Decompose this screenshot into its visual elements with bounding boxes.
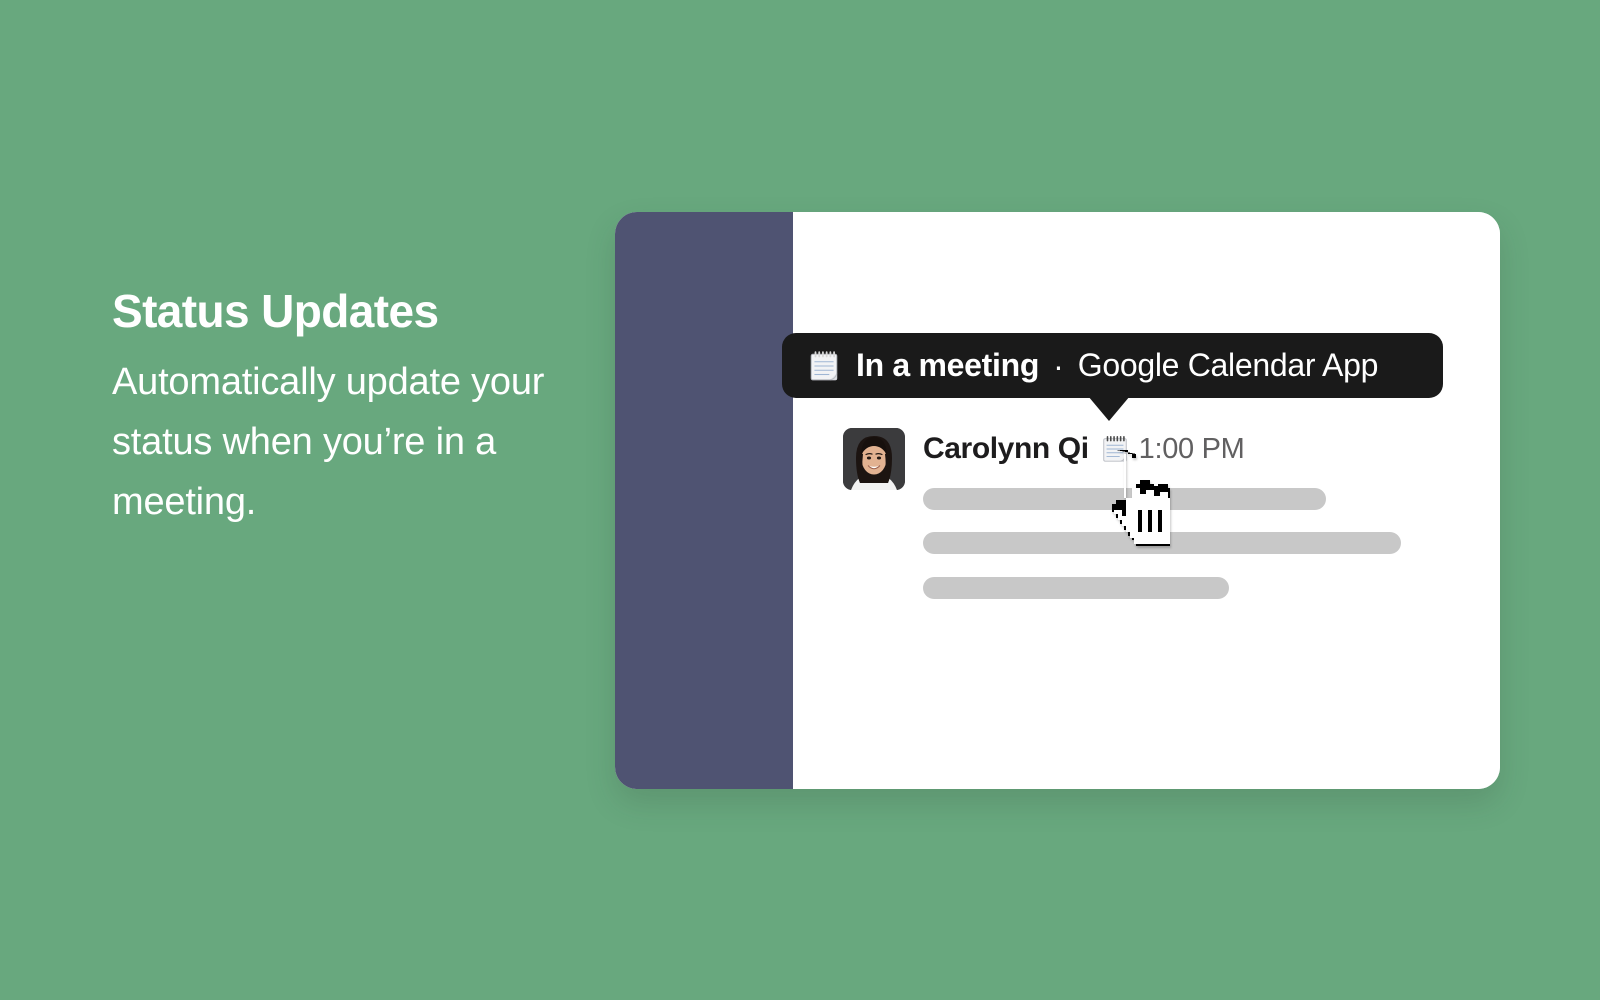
tooltip-arrow — [1088, 396, 1130, 421]
status-label: In a meeting — [856, 347, 1039, 384]
promo-text-block: Status Updates Automatically update your… — [112, 288, 582, 532]
pointing-hand-cursor — [1090, 450, 1170, 548]
notepad-icon — [807, 349, 841, 383]
app-sidebar[interactable] — [615, 212, 793, 789]
page-title: Status Updates — [112, 288, 582, 334]
separator-dot: · — [1053, 350, 1064, 382]
app-window-card: Carolynn Qi — [615, 212, 1500, 789]
promo-description: Automatically update your status when yo… — [112, 352, 582, 532]
avatar[interactable] — [843, 428, 905, 490]
message-header: Carolynn Qi — [923, 432, 1245, 466]
status-tooltip: In a meeting · Google Calendar App — [782, 333, 1443, 398]
sender-name[interactable]: Carolynn Qi — [923, 434, 1089, 464]
message-placeholder-bar — [923, 577, 1229, 599]
status-source-label: Google Calendar App — [1078, 347, 1378, 384]
